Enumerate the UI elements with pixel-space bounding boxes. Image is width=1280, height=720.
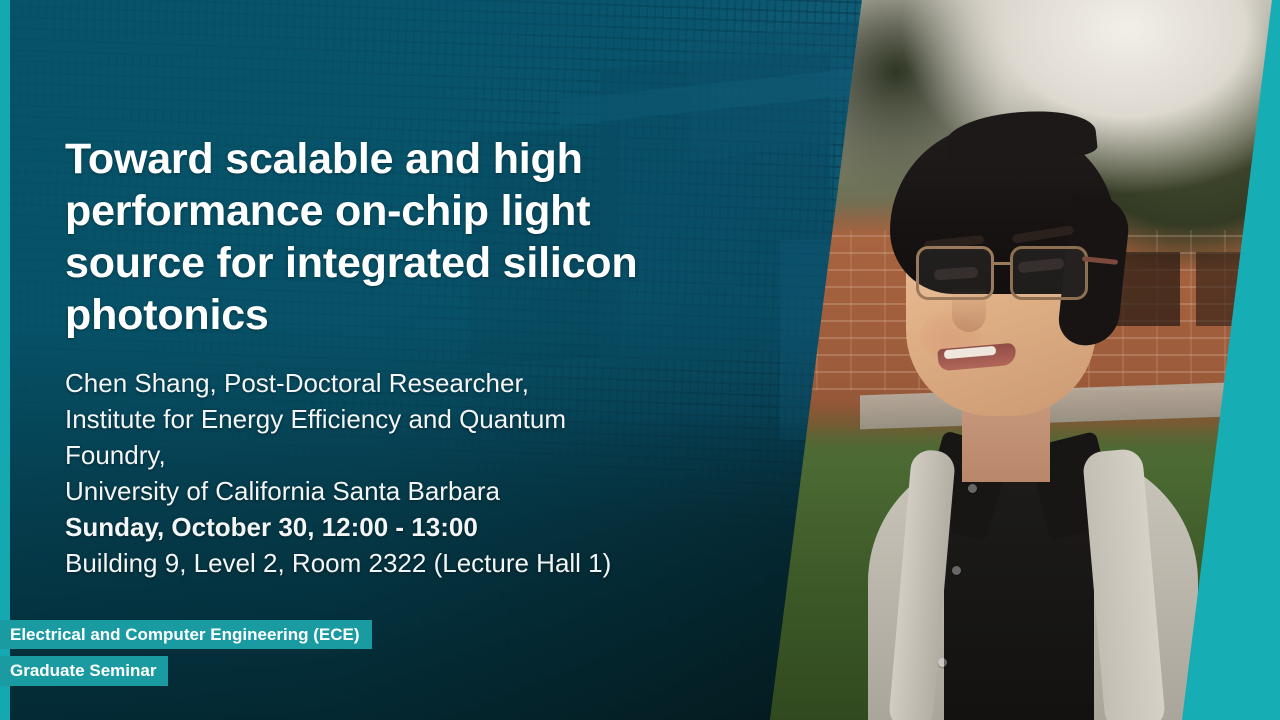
talk-title-line: photonics: [65, 289, 705, 341]
talk-title-line: source for integrated silicon: [65, 237, 705, 289]
talk-title-line: Toward scalable and high: [65, 133, 705, 185]
person-button: [968, 484, 977, 493]
person-button: [952, 566, 961, 575]
speaker-affiliation-line-2: Foundry,: [65, 437, 745, 473]
person-button: [938, 658, 947, 667]
talk-datetime: Sunday, October 30, 12:00 - 13:00: [65, 509, 745, 545]
speaker-name-role: Chen Shang, Post-Doctoral Researcher,: [65, 365, 745, 401]
talk-title: Toward scalable and high performance on-…: [65, 133, 705, 341]
department-banner: Electrical and Computer Engineering (ECE…: [0, 620, 372, 649]
talk-location: Building 9, Level 2, Room 2322 (Lecture …: [65, 545, 745, 581]
person-glasses: [906, 242, 1106, 304]
seminar-announcement-slide: Toward scalable and high performance on-…: [0, 0, 1280, 720]
talk-title-line: performance on-chip light: [65, 185, 705, 237]
left-accent-bar: [0, 0, 10, 720]
glasses-lens-right: [1010, 246, 1088, 300]
speaker-university: University of California Santa Barbara: [65, 473, 745, 509]
speaker-affiliation-line-1: Institute for Energy Efficiency and Quan…: [65, 401, 745, 437]
person-nose: [952, 288, 986, 332]
slide-content: Toward scalable and high performance on-…: [65, 0, 765, 720]
speaker-details: Chen Shang, Post-Doctoral Researcher, In…: [65, 365, 745, 581]
seminar-series-banner: Graduate Seminar: [0, 656, 168, 686]
